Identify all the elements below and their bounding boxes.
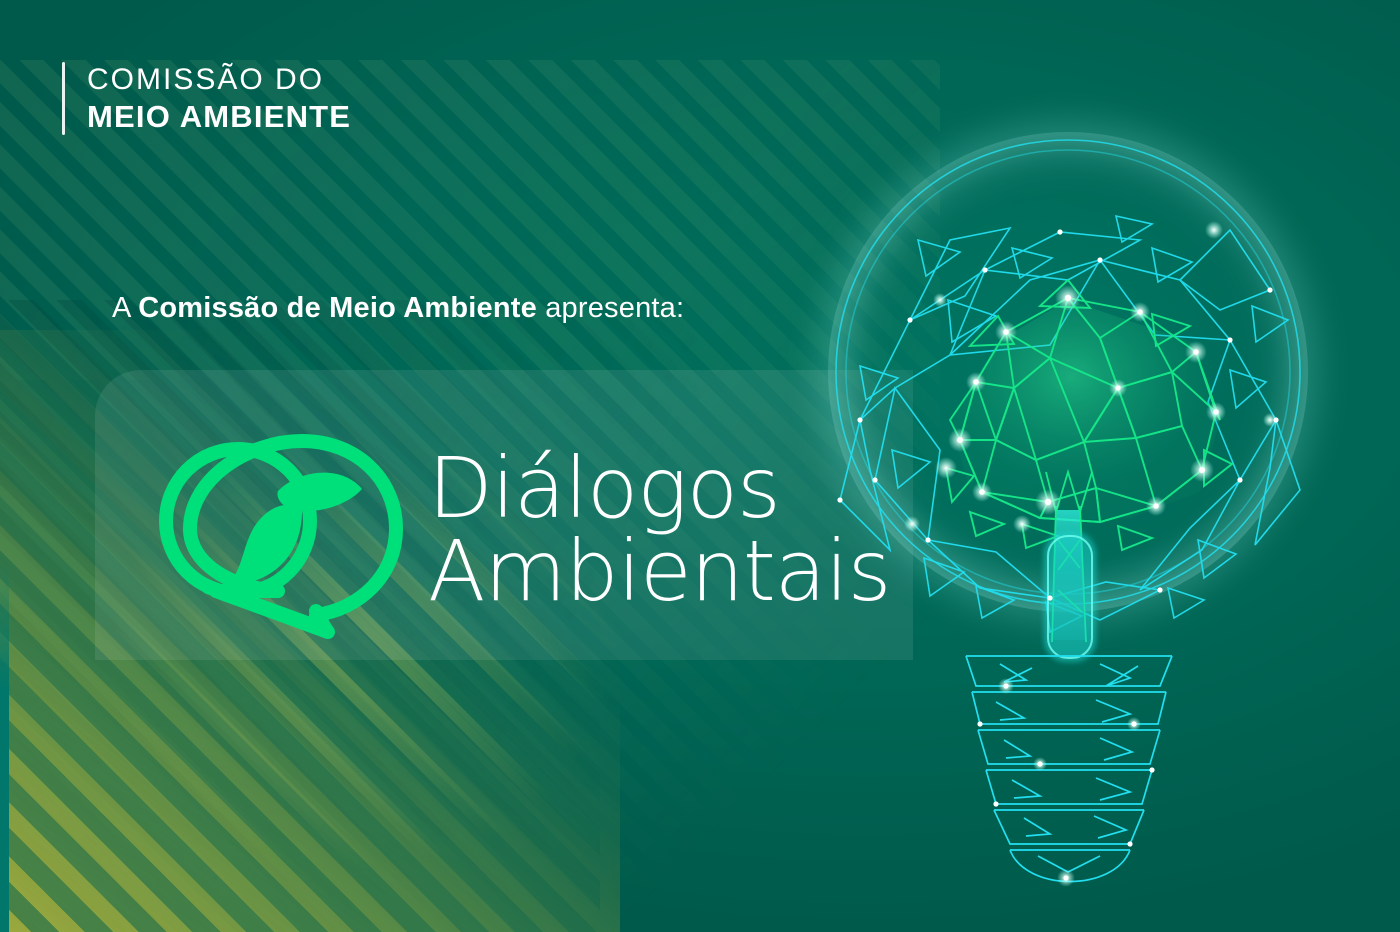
- presenter-commission-name: Comissão de Meio Ambiente: [138, 292, 537, 324]
- presenter-suffix: apresenta:: [537, 292, 684, 324]
- dialogos-logo-mark: [150, 425, 410, 640]
- wireframe-lightbulb-svg: [800, 120, 1340, 920]
- poster-canvas: COMISSÃO DO MEIO AMBIENTE A Comissão de …: [0, 0, 1400, 932]
- background-left-edge-strip: [0, 560, 9, 932]
- presenter-prefix: A: [112, 292, 138, 324]
- header-line-1: COMISSÃO DO: [87, 62, 351, 99]
- presenter-line: A Comissão de Meio Ambiente apresenta:: [112, 292, 684, 325]
- lightbulb-illustration: [800, 120, 1340, 920]
- header-line-2: MEIO AMBIENTE: [87, 99, 351, 136]
- bulb-screw-base: [966, 656, 1172, 882]
- header-divider-rule: [62, 62, 65, 135]
- commission-header: COMISSÃO DO MEIO AMBIENTE: [62, 62, 351, 135]
- speech-bubble-leaves-icon: [150, 425, 410, 640]
